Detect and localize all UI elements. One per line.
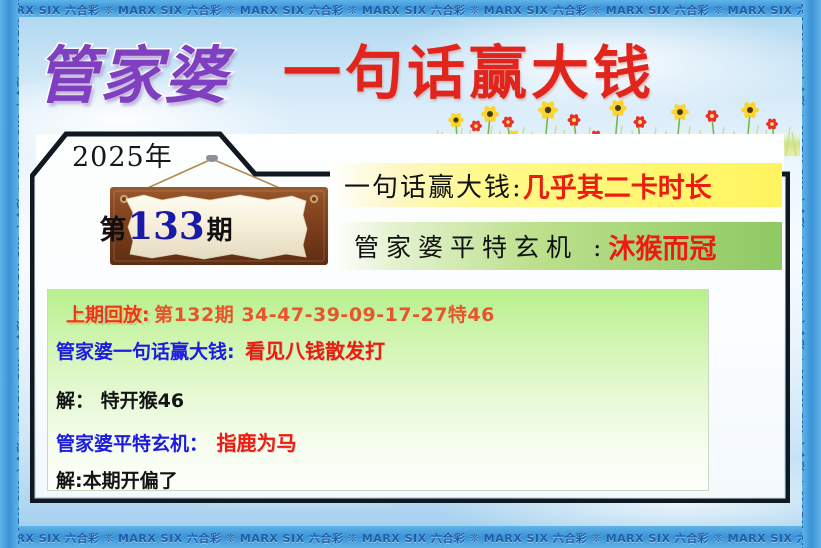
last-slogan-explain-text: 解： 特开猴46 [56,390,184,412]
issue-sign: 第133期 [100,155,340,280]
border-bottom-text: MARX SIX 六合彩 ❊ MARX SIX 六合彩 ❊ MARX SIX 六… [0,530,821,546]
results-panel: 上期回放: 第132期 34-47-39-09-17-27特46 管家婆一句话赢… [47,289,709,491]
last-slogan-value: 看见八钱散发打 [245,339,385,363]
page-title-slogan: 一句话赢大钱 [283,26,655,110]
border-top: MARX SIX 六合彩 ❊ MARX SIX 六合彩 ❊ MARX SIX 六… [0,0,821,17]
border-left-text: MARX SIX 六合彩 ❊ MARX SIX 六合彩 ❊ MARX SIX 六… [14,0,19,545]
last-pingte-value: 指鹿为马 [216,431,296,455]
banner-pingte-label: 管家婆平特玄机 : [354,228,608,264]
border-top-text: MARX SIX 六合彩 ❊ MARX SIX 六合彩 ❊ MARX SIX 六… [0,2,821,17]
page-title-brand: 管家婆 [36,25,228,115]
last-slogan-label: 管家婆一句话赢大钱: [56,341,235,363]
banner-pingte-row: 管家婆平特玄机 : 沐猴而冠 [330,222,782,270]
last-pingte-explain-text: 解:本期开偏了 [56,470,178,492]
last-pingte-explain: 解:本期开偏了 [56,466,178,493]
page-root: 管家婆 一句话赢大钱 2025年 [0,0,821,548]
border-left: MARX SIX 六合彩 ❊ MARX SIX 六合彩 ❊ MARX SIX 六… [0,0,19,548]
last-pingte-label: 管家婆平特玄机： [56,433,208,455]
last-slogan-explain: 解： 特开猴46 [56,386,184,413]
banner-slogan-row: 一句话赢大钱: 几乎其二卡时长 [330,163,782,207]
border-bottom: MARX SIX 六合彩 ❊ MARX SIX 六合彩 ❊ MARX SIX 六… [0,526,821,548]
last-pingte-row: 管家婆平特玄机： 指鹿为马 [56,427,296,456]
banner-slogan-label: 一句话赢大钱: [344,167,523,204]
replay-row: 上期回放: 第132期 34-47-39-09-17-27特46 [66,300,495,327]
replay-value: 第132期 34-47-39-09-17-27特46 [154,304,495,326]
border-right: MARX SIX 六合彩 ❊ MARX SIX 六合彩 ❊ MARX SIX 六… [802,0,821,548]
last-slogan-row: 管家婆一句话赢大钱: 看见八钱散发打 [56,335,385,364]
banner-pingte-value: 沐猴而冠 [608,227,716,266]
banner-slogan-value: 几乎其二卡时长 [523,166,712,205]
replay-label: 上期回放: [66,304,150,326]
border-right-text: MARX SIX 六合彩 ❊ MARX SIX 六合彩 ❊ MARX SIX 六… [802,3,807,548]
